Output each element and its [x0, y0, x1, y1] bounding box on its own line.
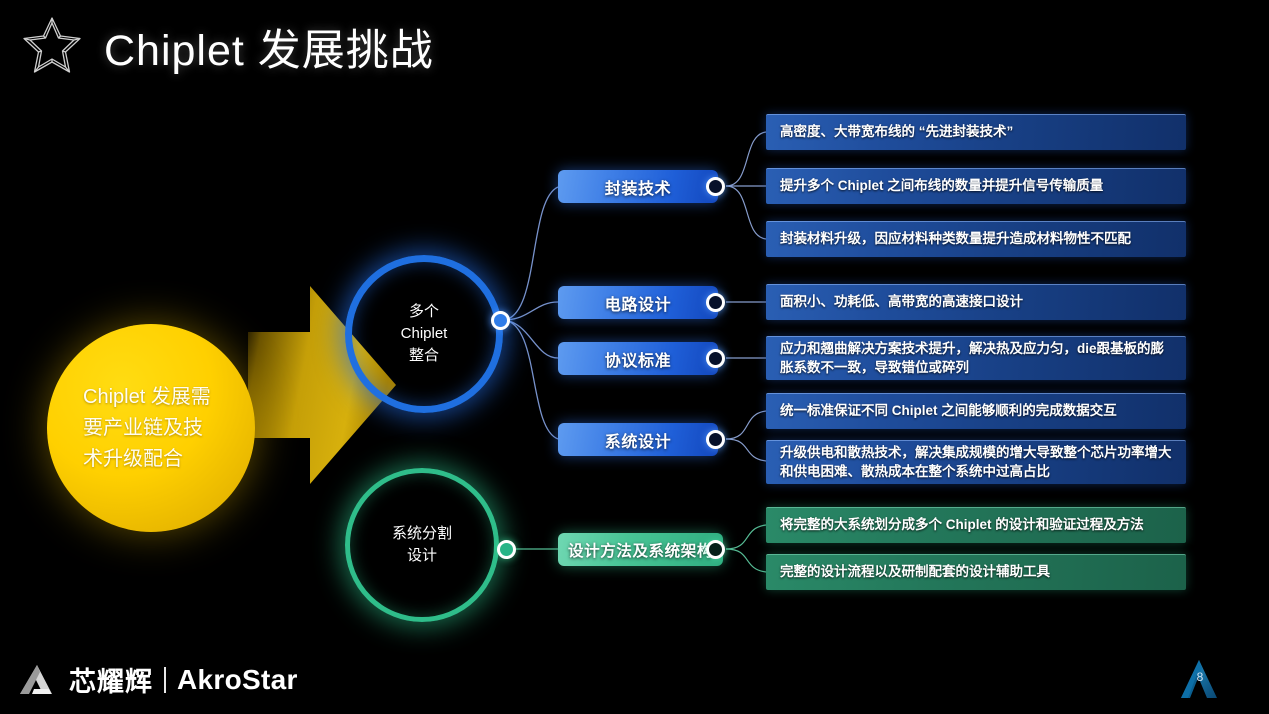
detail-box[interactable]: 升级供电和散热技术，解决集成规模的增大导致整个芯片功率增大和供电困难、散热成本在… [766, 440, 1186, 484]
detail-text: 统一标准保证不同 Chiplet 之间能够顺利的完成数据交互 [780, 402, 1117, 420]
detail-box[interactable]: 封装材料升级，因应材料种类数量提升造成材料物性不匹配 [766, 221, 1186, 257]
category-circuit-design[interactable]: 电路设计 [558, 286, 718, 319]
detail-text: 升级供电和散热技术，解决集成规模的增大导致整个芯片功率增大和供电困难、散热成本在… [780, 444, 1172, 480]
category-design-method-architecture[interactable]: 设计方法及系统架构 [558, 533, 723, 566]
brand-name-en: AkroStar [177, 664, 298, 696]
category-dot-system-design [706, 430, 725, 449]
branch-label-line-2: Chiplet [401, 325, 448, 342]
branch-label-line-2: 设计 [407, 547, 437, 564]
branch-label-line-1: 多个 [409, 303, 439, 320]
category-label: 设计方法及系统架构 [568, 539, 713, 561]
category-dot-protocol-standard [706, 349, 725, 368]
root-node-label: Chiplet 发展需要产业链及技术升级配合 [83, 382, 219, 475]
detail-box[interactable]: 完整的设计流程以及研制配套的设计辅助工具 [766, 554, 1186, 590]
brand-name-cn: 芯耀辉 [69, 660, 153, 699]
category-dot-packaging-technology [706, 177, 725, 196]
branch-connector-dot-multi-chiplet [491, 311, 510, 330]
slide-footer: 芯耀辉 AkroStar 8 [0, 652, 1269, 714]
slide-header: Chiplet 发展挑战 [0, 0, 1269, 92]
category-dot-design-method-architecture [706, 540, 725, 559]
branch-node-label: 多个 Chiplet 整合 [401, 301, 448, 366]
root-node[interactable]: Chiplet 发展需要产业链及技术升级配合 [47, 324, 255, 532]
detail-box[interactable]: 面积小、功耗低、高带宽的高速接口设计 [766, 284, 1186, 320]
category-label: 封装技术 [605, 175, 671, 199]
detail-text: 提升多个 Chiplet 之间布线的数量并提升信号传输质量 [780, 177, 1103, 195]
branch-node-system-partition[interactable]: 系统分割 设计 [345, 468, 499, 622]
detail-text: 封装材料升级，因应材料种类数量提升造成材料物性不匹配 [780, 230, 1131, 248]
detail-box[interactable]: 高密度、大带宽布线的 “先进封装技术” [766, 114, 1186, 150]
category-label: 协议标准 [605, 347, 671, 371]
detail-text: 面积小、功耗低、高带宽的高速接口设计 [780, 293, 1023, 311]
detail-text: 高密度、大带宽布线的 “先进封装技术” [780, 123, 1013, 141]
detail-box[interactable]: 将完整的大系统划分成多个 Chiplet 的设计和验证过程及方法 [766, 507, 1186, 543]
category-label: 电路设计 [605, 291, 671, 315]
page-title: Chiplet 发展挑战 [104, 16, 434, 78]
page-number: 8 [1190, 670, 1210, 684]
star-outline-icon [18, 14, 86, 78]
branch-node-multi-chiplet[interactable]: 多个 Chiplet 整合 [345, 255, 503, 413]
brand-divider [164, 667, 166, 693]
detail-box[interactable]: 应力和翘曲解决方案技术提升，解决热及应力匀，die跟基板的膨胀系数不一致，导致错… [766, 336, 1186, 380]
brand-lockup: 芯耀辉 AkroStar [20, 660, 298, 699]
detail-text: 将完整的大系统划分成多个 Chiplet 的设计和验证过程及方法 [780, 516, 1144, 534]
branch-label-line-3: 整合 [409, 347, 439, 364]
detail-box[interactable]: 提升多个 Chiplet 之间布线的数量并提升信号传输质量 [766, 168, 1186, 204]
branch-connector-dot-system-partition [497, 540, 516, 559]
detail-text: 应力和翘曲解决方案技术提升，解决热及应力匀，die跟基板的膨胀系数不一致，导致错… [780, 340, 1172, 376]
detail-box[interactable]: 统一标准保证不同 Chiplet 之间能够顺利的完成数据交互 [766, 393, 1186, 429]
category-packaging-technology[interactable]: 封装技术 [558, 170, 718, 203]
branch-node-label: 系统分割 设计 [392, 523, 452, 567]
category-protocol-standard[interactable]: 协议标准 [558, 342, 718, 375]
detail-text: 完整的设计流程以及研制配套的设计辅助工具 [780, 563, 1050, 581]
category-dot-circuit-design [706, 293, 725, 312]
slide-canvas: Chiplet 发展挑战 [0, 0, 1269, 714]
branch-label-line-1: 系统分割 [392, 525, 452, 542]
akrostar-triangle-logo [20, 663, 60, 697]
category-label: 系统设计 [605, 428, 671, 452]
category-system-design[interactable]: 系统设计 [558, 423, 718, 456]
